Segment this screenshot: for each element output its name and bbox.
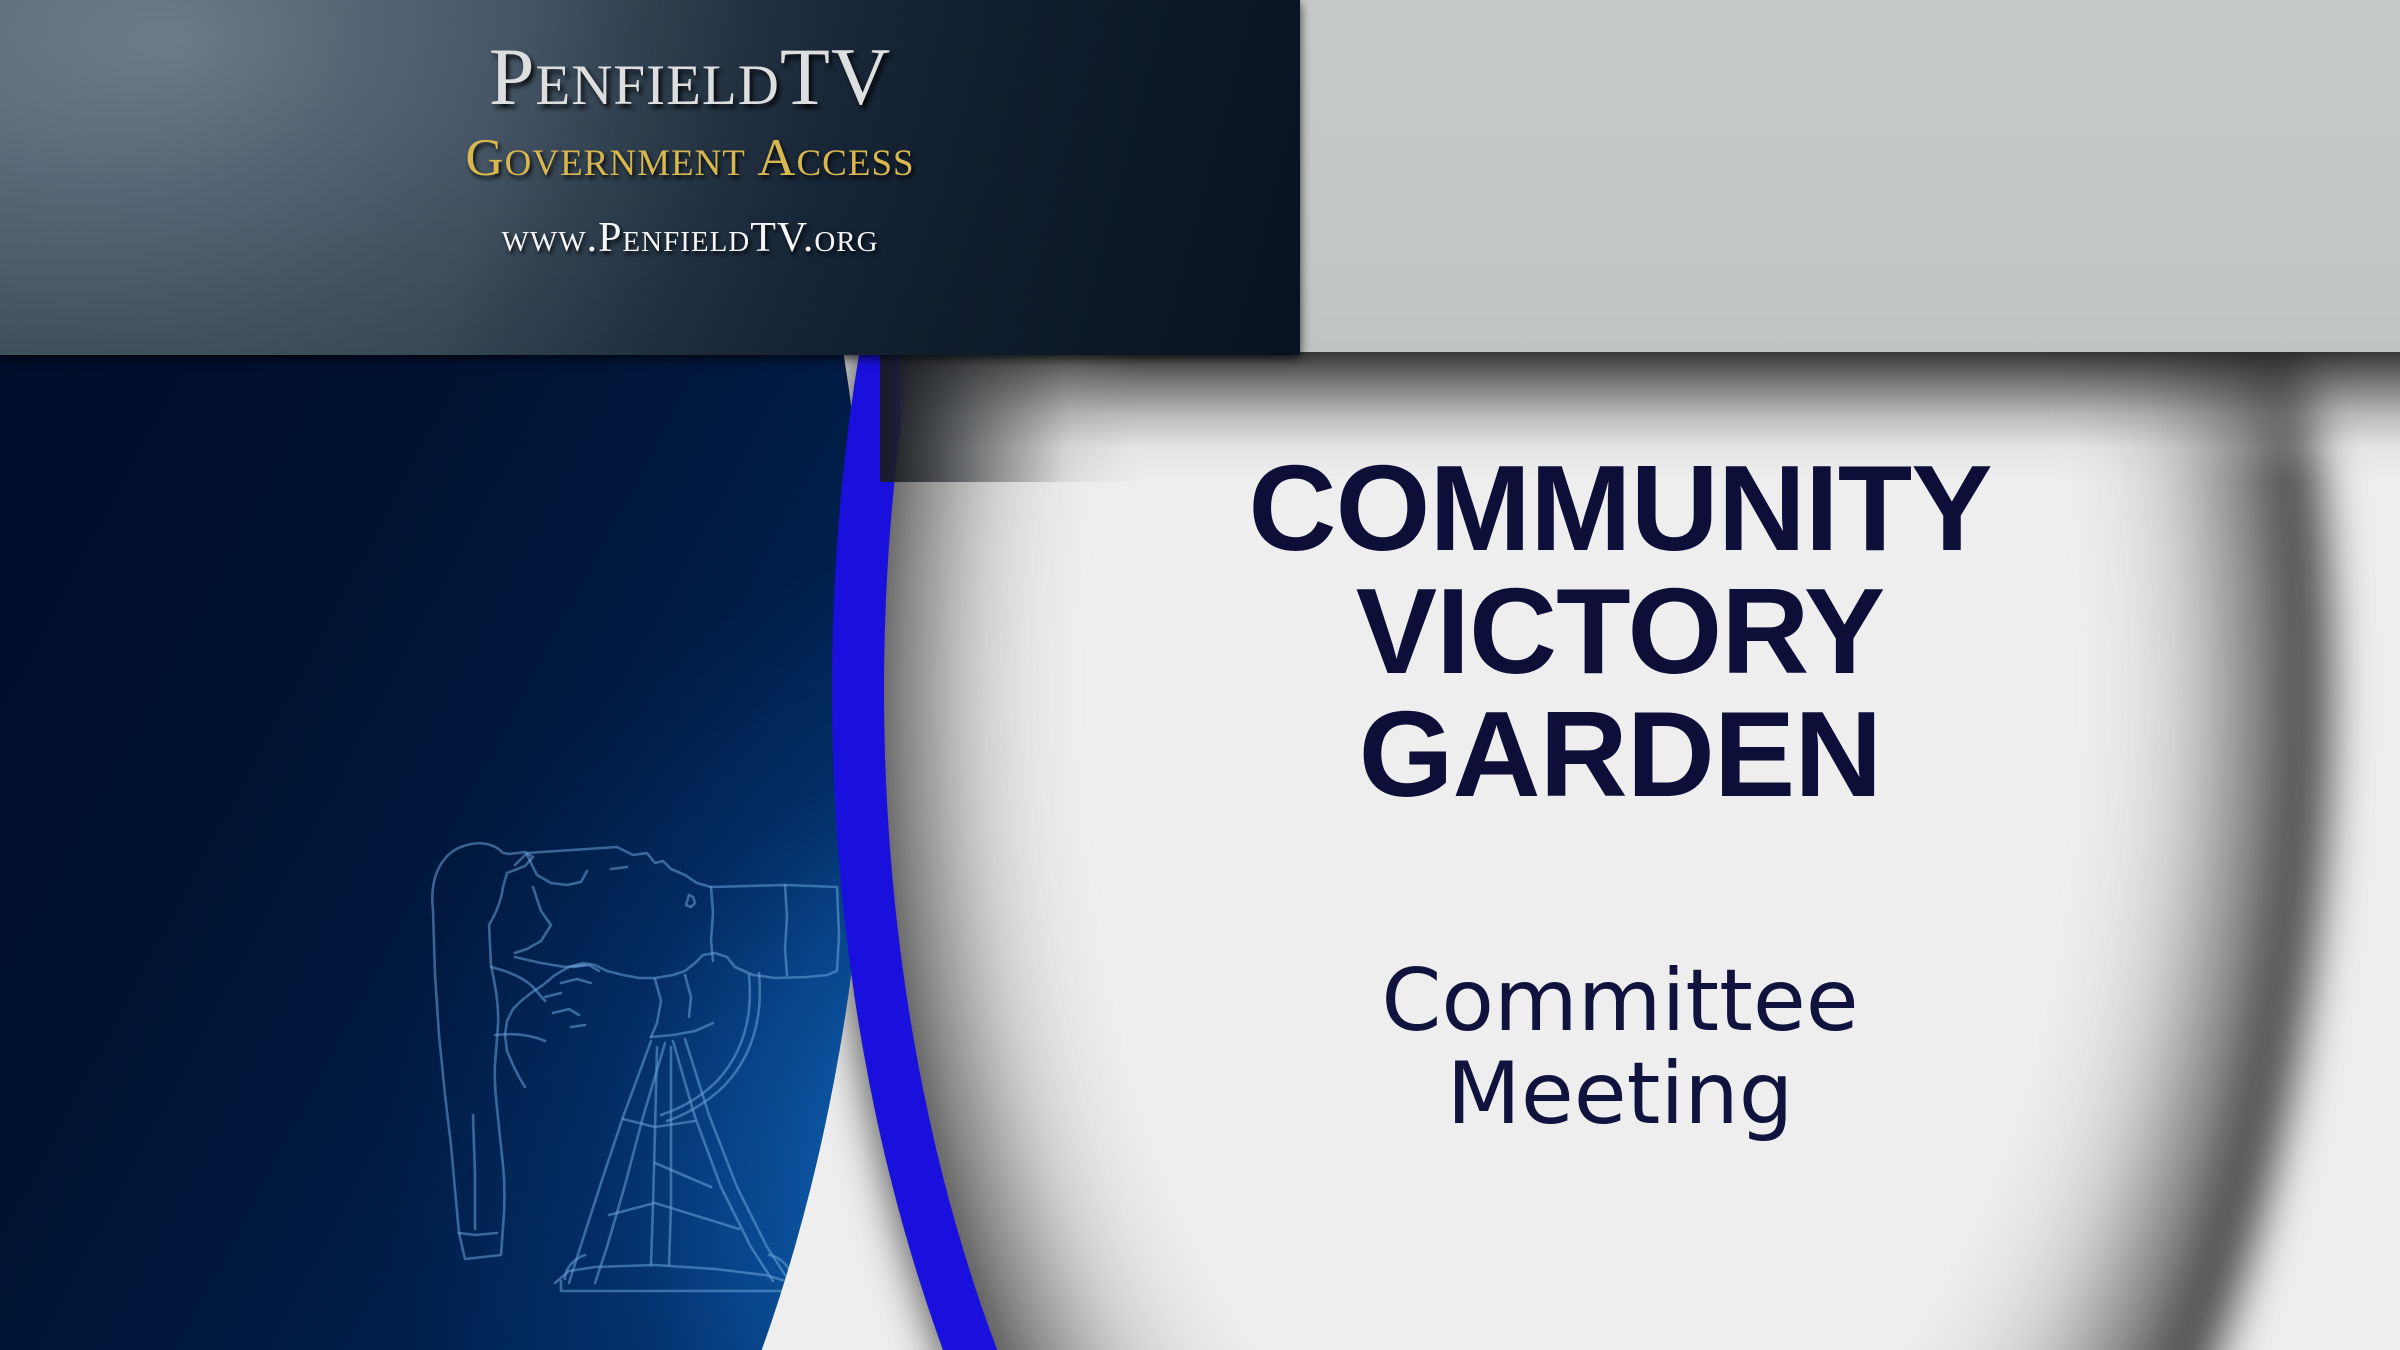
station-tagline: Government Access bbox=[410, 132, 970, 185]
title-line-2: VICTORY bbox=[1160, 573, 2080, 690]
subtitle-line-1: Committee bbox=[1160, 955, 2080, 1048]
title-line-1: COMMUNITY bbox=[1160, 450, 2080, 567]
title-line-3: GARDEN bbox=[1160, 696, 2080, 813]
subtitle-line-2: Meeting bbox=[1160, 1048, 2080, 1141]
page-subtitle: Committee Meeting bbox=[1160, 955, 2080, 1141]
page-title: COMMUNITY VICTORY GARDEN bbox=[1160, 450, 2080, 819]
title-card-slide: PenfieldTV Government Access www.Penfiel… bbox=[0, 0, 2400, 1350]
station-website: www.PenfieldTV.org bbox=[410, 217, 970, 259]
station-name: PenfieldTV bbox=[410, 36, 970, 118]
station-logo: PenfieldTV Government Access www.Penfiel… bbox=[410, 36, 970, 259]
